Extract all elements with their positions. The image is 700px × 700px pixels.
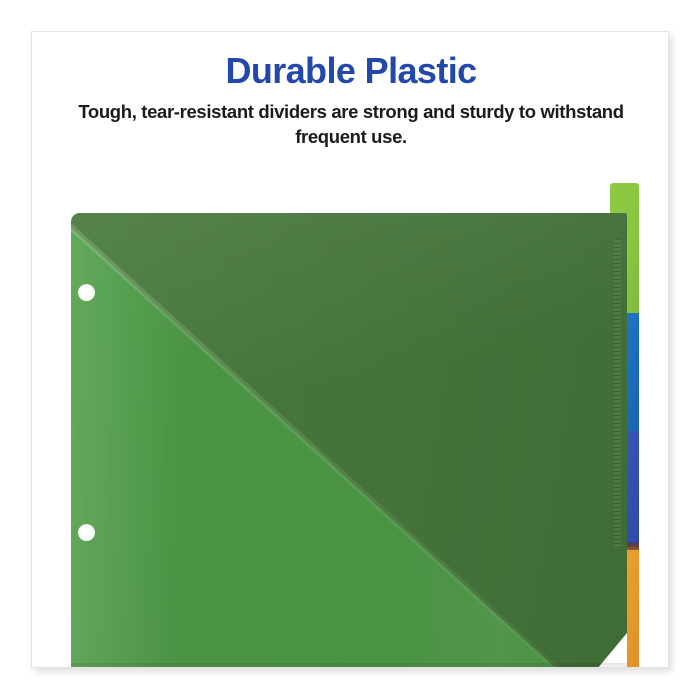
marketing-text-block: Durable Plastic Tough, tear-resistant di… <box>32 49 669 149</box>
punch-hole-bottom <box>78 524 95 541</box>
green-divider-sheet <box>71 213 627 668</box>
product-card: Durable Plastic Tough, tear-resistant di… <box>31 31 669 668</box>
pocket-flap <box>71 213 627 668</box>
punch-hole-top <box>78 284 95 301</box>
product-photo <box>32 157 669 668</box>
page-subtitle: Tough, tear-resistant dividers are stron… <box>32 99 669 149</box>
page-title: Durable Plastic <box>32 49 669 93</box>
product-image-stage: Durable Plastic Tough, tear-resistant di… <box>0 0 700 700</box>
